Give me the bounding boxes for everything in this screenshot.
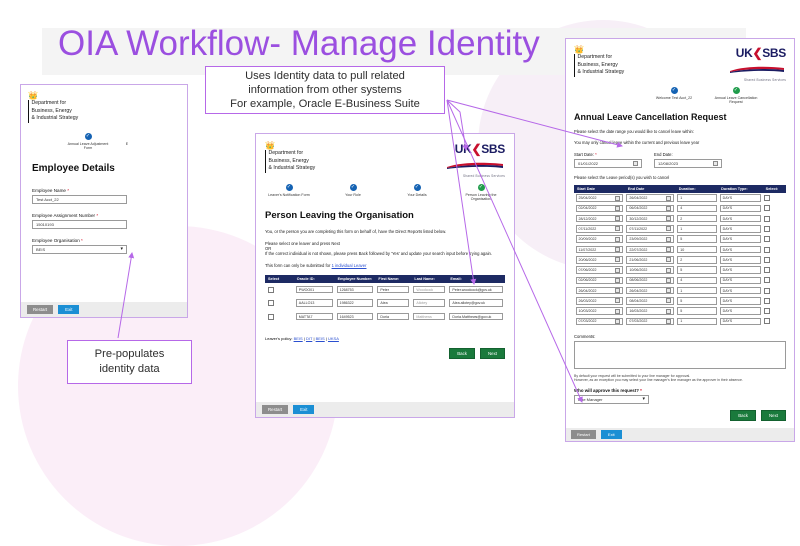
callout-line: Pre-populates (95, 347, 165, 362)
cell-duration[interactable]: 1 (677, 225, 716, 233)
col-oracle-id: Oracle ID: (294, 275, 335, 283)
calendar-icon[interactable] (615, 257, 620, 262)
exit-button[interactable]: Exit (293, 405, 314, 414)
direct-reports-table: Select Oracle ID: Employee Number: First… (265, 275, 505, 324)
calendar-icon[interactable] (666, 268, 671, 273)
submit-note-text: This form can only be submitted for (265, 263, 332, 268)
cell-duration-type[interactable]: DAYS (720, 266, 762, 274)
panel-employee-details: 👑 Department for Business, Energy & Indu… (20, 84, 188, 318)
approver-select[interactable]: Line Manager ▾ (574, 395, 649, 404)
cell-duration-type[interactable]: DAYS (720, 256, 762, 264)
cell-start-date[interactable]: 20/06/2022 (576, 256, 624, 264)
cell-end-date[interactable]: 30/12/2022 (626, 215, 674, 223)
employee-organisation-select[interactable]: BEIS ▾ (32, 245, 127, 254)
select-value: BEIS (36, 247, 45, 252)
table-row: PWOO01 1268753 Peter Woodcock Peter.wood… (265, 283, 505, 297)
calendar-icon[interactable] (666, 226, 671, 231)
cell-end-date[interactable]: 08/06/2022 (626, 277, 674, 285)
step-annual-leave-adjustment-form[interactable]: ✓ Annual Leave Adjustment Form (63, 133, 113, 151)
cell-start-date[interactable]: 26/03/2022 (576, 297, 624, 305)
row-select-checkbox[interactable] (764, 257, 770, 263)
back-button[interactable]: Back (730, 410, 756, 421)
cell-duration-type[interactable]: DAYS (720, 318, 762, 326)
step-label: Person Leaving the Organisation (456, 193, 506, 202)
button-bar-left: Restart Exit (21, 302, 187, 317)
cell-employee-number[interactable]: 1986322 (337, 299, 374, 307)
royal-crest-icon: 👑 (265, 142, 315, 150)
royal-crest-icon: 👑 (28, 92, 78, 100)
step-label: Annual Leave Cancellation Request (711, 96, 761, 105)
policy-link-dit[interactable]: DIT (306, 336, 312, 341)
step-label: Annual Leave Adjustment Form (63, 142, 113, 151)
step-person-leaving-the-organisation[interactable]: ✓ Person Leaving the Organisation (456, 184, 506, 202)
row-select-checkbox[interactable] (764, 247, 770, 253)
calendar-icon[interactable] (615, 278, 620, 283)
field-employee-assignment-number: Employee Assignment Number 15010193 (32, 213, 176, 229)
col-select: Select: (763, 185, 786, 193)
calendar-icon[interactable] (615, 206, 620, 211)
progress-steps-middle: ✓ Leaver's Notification Form ✓ Your Role… (256, 184, 514, 202)
calendar-icon[interactable] (633, 161, 638, 166)
end-date-value: 12/08/2023 (658, 159, 678, 168)
instruction-not-shown: If the correct individual is not shown, … (265, 251, 505, 256)
calendar-icon[interactable] (615, 247, 620, 252)
uksbs-swoosh-icon (728, 66, 786, 73)
calendar-icon[interactable] (666, 237, 671, 242)
calendar-icon[interactable] (666, 247, 671, 252)
table-row: 25/04/202226/04/20221DAYS (574, 193, 786, 203)
table-row: 11/07/202222/07/202210DAYS (574, 244, 786, 254)
uksbs-swoosh-icon (445, 162, 505, 169)
cell-duration-type[interactable]: DAYS (720, 277, 762, 285)
row-select-checkbox[interactable] (268, 300, 274, 306)
cell-end-date[interactable]: 06/04/2022 (626, 205, 674, 213)
start-date-input[interactable]: 01/01/2022 (574, 159, 642, 168)
cell-start-date[interactable]: 11/07/2022 (576, 246, 624, 254)
nav-buttons-right: Back Next (566, 410, 794, 421)
cell-last-name[interactable]: Allotey (413, 299, 445, 307)
progress-steps-right: ✓ Welcome Test Acct_22 ✓ Annual Leave Ca… (566, 87, 794, 105)
step-label: E (123, 142, 131, 146)
callout-line: For example, Oracle E-Business Suite (230, 97, 420, 111)
intro-paragraph: You, or the person you are completing th… (265, 229, 505, 234)
panel-heading: Annual Leave Cancellation Request (574, 112, 794, 122)
policy-link-uksa[interactable]: UKSA (328, 336, 339, 341)
row-select-checkbox[interactable] (764, 277, 770, 283)
calendar-icon[interactable] (666, 278, 671, 283)
exit-button[interactable]: Exit (58, 305, 79, 314)
step-label: Your Role (328, 193, 378, 197)
chevron-down-icon: ▾ (642, 396, 645, 402)
callout-line: Uses Identity data to pull related (230, 69, 420, 83)
table-row: 02/06/202208/06/20224DAYS (574, 275, 786, 285)
row-select-checkbox[interactable] (764, 205, 770, 211)
col-select: Select (265, 275, 294, 283)
col-employee-number: Employee Number: (335, 275, 376, 283)
cell-first-name[interactable]: Doria (377, 313, 409, 321)
cell-end-date[interactable]: 22/07/2022 (626, 246, 674, 254)
progress-steps-left: ✓ Annual Leave Adjustment Form E (21, 133, 187, 151)
calendar-icon[interactable] (615, 288, 620, 293)
department-name: Department for Business, Energy & Indust… (28, 100, 78, 123)
callout-pre-populates-identity-data: Pre-populates identity data (67, 340, 192, 384)
calendar-icon[interactable] (615, 309, 620, 314)
row-select-checkbox[interactable] (764, 318, 770, 324)
callout-uses-identity-data: Uses Identity data to pull related infor… (205, 66, 445, 114)
calendar-icon[interactable] (666, 298, 671, 303)
cell-duration-type[interactable]: DAYS (720, 205, 762, 213)
field-start-date: Start Date: 01/01/2022 (574, 152, 642, 168)
cell-duration[interactable]: 4 (677, 205, 716, 213)
calendar-icon[interactable] (615, 237, 620, 242)
cell-duration[interactable]: 5 (677, 307, 716, 315)
cell-start-date[interactable]: 07/06/2022 (576, 266, 624, 274)
table-row: 02/04/202206/04/20224DAYS (574, 203, 786, 213)
page-title: OIA Workflow- Manage Identity (58, 24, 540, 64)
calendar-icon[interactable] (666, 206, 671, 211)
col-duration: Duration: (676, 185, 718, 193)
cell-duration[interactable]: 5 (677, 235, 716, 243)
cell-duration[interactable]: 1 (677, 194, 716, 202)
row-select-checkbox[interactable] (764, 267, 770, 273)
employee-assignment-number-input[interactable]: 15010193 (32, 220, 127, 229)
restart-button[interactable]: Restart (262, 405, 288, 414)
cell-end-date[interactable]: 26/04/2022 (626, 194, 674, 202)
cell-duration[interactable]: 5 (677, 266, 716, 274)
cell-duration[interactable]: 1 (677, 318, 716, 326)
step-leavers-notification-form[interactable]: ✓ Leaver's Notification Form (264, 184, 314, 202)
cell-duration-type[interactable]: DAYS (720, 225, 762, 233)
cell-last-name[interactable]: Woodcock (413, 286, 445, 294)
department-name: Department for Business, Energy & Indust… (265, 150, 315, 173)
select-value: Line Manager (578, 397, 602, 402)
uksbs-tagline: Shared Business Services (445, 174, 505, 178)
calendar-icon[interactable] (666, 257, 671, 262)
leave-periods-table: Start Date End Date Duration: Duration T… (574, 185, 786, 327)
step-label: Welcome Test Acct_22 (649, 96, 699, 100)
button-bar-middle: Restart Exit (256, 402, 514, 417)
cell-duration-type[interactable]: DAYS (720, 297, 762, 305)
calendar-icon[interactable] (666, 196, 671, 201)
col-first-name: First Name: (375, 275, 411, 283)
cell-duration[interactable]: 1 (677, 287, 716, 295)
restart-button[interactable]: Restart (571, 430, 596, 439)
calendar-icon[interactable] (666, 288, 671, 293)
royal-crest-icon: 👑 (574, 46, 624, 54)
step-next-partial[interactable]: E (123, 133, 131, 151)
row-select-checkbox[interactable] (764, 226, 770, 232)
step-dot-icon: ✓ (478, 184, 485, 191)
approver-label: Who will approve this request? (574, 388, 786, 393)
panel-heading: Person Leaving the Organisation (265, 210, 514, 221)
cell-end-date[interactable]: 21/06/2022 (626, 256, 674, 264)
branding-block-middle: 👑 Department for Business, Energy & Indu… (256, 134, 514, 178)
uksbs-wordmark: UK❮SBS (445, 142, 505, 156)
cell-first-name[interactable]: Peter (377, 286, 409, 294)
next-button[interactable]: Next (480, 348, 505, 359)
cell-end-date[interactable]: 10/06/2022 (626, 266, 674, 274)
cell-oracle-id[interactable]: MATTA7 (296, 313, 333, 321)
leavers-policy-line: Leaver's policy: BEIS | DIT | BEIS | UKS… (256, 336, 514, 341)
nav-buttons-middle: Back Next (256, 348, 514, 359)
table-header-row: Start Date End Date Duration: Duration T… (574, 185, 786, 193)
table-row: 07/03/202207/03/20221DAYS (574, 316, 786, 326)
row-select-checkbox[interactable] (764, 195, 770, 201)
approval-note-exception: However, as an exception you may select … (574, 378, 786, 382)
policy-link-beis-2[interactable]: BEIS (316, 336, 325, 341)
next-button[interactable]: Next (761, 410, 786, 421)
cell-duration-type[interactable]: DAYS (720, 235, 762, 243)
row-select-checkbox[interactable] (764, 298, 770, 304)
calendar-icon[interactable] (713, 161, 718, 166)
cell-end-date[interactable]: 08/04/2022 (626, 297, 674, 305)
row-select-checkbox[interactable] (764, 236, 770, 242)
cell-duration[interactable]: 5 (677, 297, 716, 305)
row-select-checkbox[interactable] (764, 288, 770, 294)
table-row: 28/12/202230/12/20222DAYS (574, 214, 786, 224)
cell-start-date[interactable]: 07/03/2022 (576, 318, 624, 326)
col-last-name: Last Name: (411, 275, 447, 283)
calendar-icon[interactable] (615, 298, 620, 303)
field-label: Employee Assignment Number (32, 213, 176, 218)
calendar-icon[interactable] (615, 196, 620, 201)
field-label: Employee Name (32, 188, 176, 193)
cell-employee-number[interactable]: 1649523 (337, 313, 374, 321)
field-approver: Who will approve this request? Line Mana… (574, 388, 786, 404)
table-header-row: Select Oracle ID: Employee Number: First… (265, 275, 505, 283)
cell-duration[interactable]: 10 (677, 246, 716, 254)
policy-link-beis[interactable]: BEIS (294, 336, 303, 341)
step-dot-icon: ✓ (414, 184, 421, 191)
cell-oracle-id[interactable]: PWOO01 (296, 286, 333, 294)
exit-button[interactable]: Exit (601, 430, 622, 439)
branding-block-left: 👑 Department for Business, Energy & Indu… (21, 85, 187, 123)
panel-heading: Employee Details (32, 163, 187, 174)
step-dot-icon: ✓ (286, 184, 293, 191)
chevron-down-icon: ▾ (120, 246, 123, 252)
cell-end-date[interactable]: 23/09/2022 (626, 235, 674, 243)
cell-end-date[interactable]: 26/04/2022 (626, 287, 674, 295)
row-select-checkbox[interactable] (268, 314, 274, 320)
step-annual-leave-cancellation-request[interactable]: ✓ Annual Leave Cancellation Request (711, 87, 761, 105)
cell-start-date[interactable]: 26/04/2022 (576, 287, 624, 295)
cell-employee-number[interactable]: 1268753 (337, 286, 374, 294)
cell-start-date[interactable]: 28/12/2022 (576, 215, 624, 223)
cell-oracle-id[interactable]: AALLO13 (296, 299, 333, 307)
field-employee-organisation: Employee Organisation BEIS ▾ (32, 238, 176, 254)
calendar-icon[interactable] (615, 319, 620, 324)
comments-label: Comments: (574, 334, 786, 339)
calendar-icon[interactable] (666, 216, 671, 221)
end-date-input[interactable]: 12/08/2023 (654, 159, 722, 168)
cell-first-name[interactable]: Alea (377, 299, 409, 307)
cell-duration-type[interactable]: DAYS (720, 307, 762, 315)
step-dot-icon: ✓ (733, 87, 740, 94)
start-date-value: 01/01/2022 (578, 159, 598, 168)
panel-person-leaving: 👑 Department for Business, Energy & Indu… (255, 133, 515, 418)
cell-duration-type[interactable]: DAYS (720, 215, 762, 223)
cell-duration[interactable]: 4 (677, 277, 716, 285)
button-bar-right: Restart Exit (566, 428, 794, 441)
col-start-date: Start Date (574, 185, 625, 193)
calendar-icon[interactable] (615, 216, 620, 221)
cell-duration-type[interactable]: DAYS (720, 194, 762, 202)
table-row: 10/03/202216/03/20225DAYS (574, 306, 786, 316)
step-label: Your Details (392, 193, 442, 197)
callout-line: identity data (95, 362, 165, 377)
cell-email[interactable]: Doria.Matthews@gov.uk (449, 313, 503, 321)
step-your-role[interactable]: ✓ Your Role (328, 184, 378, 202)
uksbs-tagline: Shared Business Services (728, 78, 786, 82)
end-date-label: End Date: (654, 152, 722, 157)
cell-duration-type[interactable]: DAYS (720, 287, 762, 295)
cell-email[interactable]: Peter.woodcock@gov.uk (449, 286, 503, 294)
step-your-details[interactable]: ✓ Your Details (392, 184, 442, 202)
cell-last-name[interactable]: Matthews (413, 313, 445, 321)
panel-annual-leave-cancellation: 👑 Department for Business, Energy & Indu… (565, 38, 795, 442)
select-leave-period-note: Please select the Leave period(s) you wi… (574, 175, 786, 180)
col-email: Email: (447, 275, 505, 283)
uksbs-logo: UK❮SBS Shared Business Services (445, 142, 505, 178)
cell-duration-type[interactable]: DAYS (720, 246, 762, 254)
cell-start-date[interactable]: 07/11/2022 (576, 225, 624, 233)
uksbs-wordmark: UK❮SBS (728, 46, 786, 60)
uksbs-logo: UK❮SBS Shared Business Services (728, 46, 786, 82)
table-row: 26/03/202208/04/20225DAYS (574, 296, 786, 306)
row-select-checkbox[interactable] (764, 216, 770, 222)
row-select-checkbox[interactable] (268, 287, 274, 293)
leave-year-note: You may only cancel leave within the cur… (574, 140, 786, 145)
step-dot-icon: ✓ (85, 133, 92, 140)
cell-duration[interactable]: 2 (677, 256, 716, 264)
branding-block-right: 👑 Department for Business, Energy & Indu… (566, 39, 794, 82)
cell-email[interactable]: Alea.allotey@gov.uk (449, 299, 503, 307)
calendar-icon[interactable] (666, 309, 671, 314)
cell-end-date[interactable]: 07/11/2022 (626, 225, 674, 233)
table-row: AALLO13 1986322 Alea Allotey Alea.allote… (265, 296, 505, 310)
field-employee-name: Employee Name Test Acct_22 (32, 188, 176, 204)
cell-duration[interactable]: 2 (677, 215, 716, 223)
callout-line: information from other systems (230, 83, 420, 97)
restart-button[interactable]: Restart (27, 305, 53, 314)
employee-name-input[interactable]: Test Acct_22 (32, 195, 127, 204)
cell-start-date[interactable]: 20/09/2022 (576, 235, 624, 243)
date-range-instruction: Please select the date range you would l… (574, 129, 786, 134)
submit-note: This form can only be submitted for 1 in… (265, 263, 505, 268)
calendar-icon[interactable] (615, 268, 620, 273)
policy-label: Leaver's policy: (265, 336, 294, 341)
cell-end-date[interactable]: 07/03/2022 (626, 318, 674, 326)
step-label: Leaver's Notification Form (264, 193, 314, 197)
individual-leaver-link[interactable]: 1 individual Leaver (332, 263, 367, 268)
table-row: 20/06/202221/06/20222DAYS (574, 255, 786, 265)
step-dot-icon: ✓ (671, 87, 678, 94)
cell-start-date[interactable]: 10/03/2022 (576, 307, 624, 315)
start-date-label: Start Date: (574, 152, 642, 157)
calendar-icon[interactable] (615, 226, 620, 231)
col-duration-type: Duration Type: (718, 185, 763, 193)
department-name: Department for Business, Energy & Indust… (574, 54, 624, 77)
step-dot-icon: ✓ (350, 184, 357, 191)
back-button[interactable]: Back (449, 348, 475, 359)
field-label: Employee Organisation (32, 238, 176, 243)
cell-start-date[interactable]: 02/04/2022 (576, 205, 624, 213)
table-row: MATTA7 1649523 Doria Matthews Doria.Matt… (265, 310, 505, 324)
calendar-icon[interactable] (666, 319, 671, 324)
cell-start-date[interactable]: 02/06/2022 (576, 277, 624, 285)
table-row: 26/04/202226/04/20221DAYS (574, 286, 786, 296)
comments-textarea[interactable] (574, 341, 786, 369)
field-end-date: End Date: 12/08/2023 (654, 152, 722, 168)
row-select-checkbox[interactable] (764, 308, 770, 314)
table-row: 07/06/202210/06/20225DAYS (574, 265, 786, 275)
col-end-date: End Date (625, 185, 676, 193)
cell-start-date[interactable]: 25/04/2022 (576, 194, 624, 202)
table-row: 07/11/202207/11/20221DAYS (574, 224, 786, 234)
step-welcome-test-acct[interactable]: ✓ Welcome Test Acct_22 (649, 87, 699, 105)
cell-end-date[interactable]: 16/03/2022 (626, 307, 674, 315)
table-row: 20/09/202223/09/20225DAYS (574, 234, 786, 244)
